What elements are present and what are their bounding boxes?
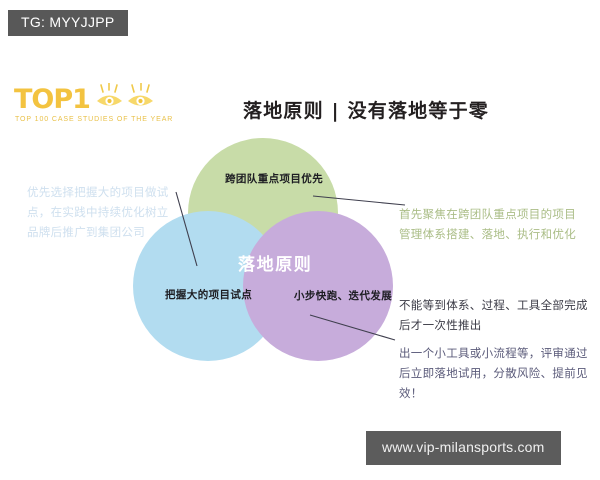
slide-canvas: TG: MYYJJPP TOP1 TOP 100 CASE STUDIES OF… xyxy=(0,0,600,480)
venn-label-left: 把握大的项目试点 xyxy=(165,287,252,302)
telegram-handle-badge: TG: MYYJJPP xyxy=(8,10,128,36)
venn-center-label: 落地原则 xyxy=(238,250,312,275)
logo-subtitle: TOP 100 CASE STUDIES OF THE YEAR xyxy=(15,116,173,123)
venn-label-top: 跨团队重点项目优先 xyxy=(225,171,323,186)
page-title: 落地原则 | 没有落地等于零 xyxy=(243,96,489,123)
logo-wordmark: TOP1 xyxy=(14,86,90,113)
annotation-right-third: 出一个小工具或小流程等，评审通过后立即落地试用，分散风险、提前见效！ xyxy=(399,344,589,403)
annotation-right-second: 不能等到体系、过程、工具全部完成后才一次性推出 xyxy=(399,296,589,336)
annotation-left: 优先选择把握大的项目做试点，在实践中持续优化树立品牌后推广到集团公司 xyxy=(27,183,179,242)
site-watermark: www.vip-milansports.com xyxy=(366,431,561,465)
venn-label-right: 小步快跑、迭代发展 xyxy=(294,288,392,303)
eyes-sparkle-icon xyxy=(96,83,162,118)
top1-logo: TOP1 TOP 100 CASE STUDIES OF THE YEAR xyxy=(12,86,172,132)
annotation-right-first: 首先聚焦在跨团队重点项目的项目管理体系搭建、落地、执行和优化 xyxy=(399,205,577,245)
venn-circle-right xyxy=(243,211,393,361)
